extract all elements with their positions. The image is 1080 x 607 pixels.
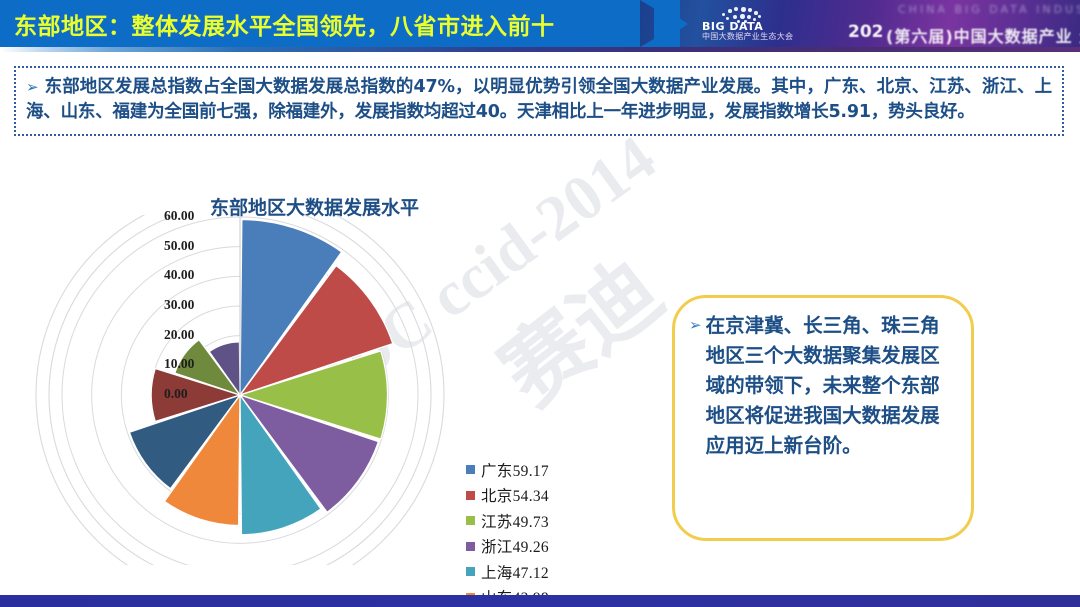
radial-tick-30.00: 30.00 bbox=[164, 297, 194, 313]
legend-item: 浙江49.26 bbox=[466, 534, 616, 560]
legend-label: 北京54.34 bbox=[481, 484, 549, 506]
legend-swatch-icon bbox=[466, 465, 475, 474]
radial-axis-ticklabels: 0.0010.0020.0030.0040.0050.0060.00 bbox=[18, 215, 458, 565]
slide-footer bbox=[0, 595, 1080, 607]
intro-paragraph: ➢东部地区发展总指数占全国大数据发展总指数的47%，以明显优势引领全国大数据产业… bbox=[26, 75, 1052, 125]
page-title: 东部地区：整体发展水平全国领先，八省市进入前十 bbox=[14, 7, 555, 41]
chart-region: 东部地区大数据发展水平 0.0010.0020.0030.0040.0050.0… bbox=[0, 175, 620, 575]
radial-tick-20.00: 20.00 bbox=[164, 327, 194, 343]
radial-tick-60.00: 60.00 bbox=[164, 208, 194, 224]
callout-box: ➢ 在京津冀、长三角、珠三角地区三个大数据聚集发展区域的带领下，未来整个东部地区… bbox=[672, 295, 974, 541]
banner-year: 202 bbox=[848, 22, 884, 42]
legend-item: 上海47.12 bbox=[466, 559, 616, 585]
legend-item: 广东59.17 bbox=[466, 457, 616, 483]
logo-sub-text: 中国大数据产业生态大会 bbox=[702, 31, 793, 42]
chart-legend: 广东59.17北京54.34江苏49.73浙江49.26上海47.12山东43.… bbox=[466, 457, 616, 607]
polar-rose-chart: 0.0010.0020.0030.0040.0050.0060.00 bbox=[18, 215, 458, 565]
legend-label: 上海47.12 bbox=[481, 561, 549, 583]
legend-swatch-icon bbox=[466, 542, 475, 551]
legend-label: 江苏49.73 bbox=[481, 510, 549, 532]
intro-textbox: ➢东部地区发展总指数占全国大数据发展总指数的47%，以明显优势引领全国大数据产业… bbox=[14, 66, 1064, 136]
callout-text: 在京津冀、长三角、珠三角地区三个大数据聚集发展区域的带领下，未来整个东部地区将促… bbox=[706, 311, 957, 461]
intro-bullet-icon: ➢ bbox=[26, 78, 38, 96]
banner-ghost-text: CHINA BIG DATA INDUSTRY bbox=[898, 3, 1080, 16]
legend-label: 浙江49.26 bbox=[481, 535, 549, 557]
callout-inner: ➢ 在京津冀、长三角、珠三角地区三个大数据聚集发展区域的带领下，未来整个东部地区… bbox=[689, 311, 957, 461]
conference-banner: CHINA BIG DATA INDUSTRY BIG DATA 中国大数据产业… bbox=[640, 0, 1080, 47]
slide-header: CHINA BIG DATA INDUSTRY BIG DATA 中国大数据产业… bbox=[0, 0, 1080, 47]
legend-item: 北京54.34 bbox=[466, 483, 616, 509]
radial-tick-50.00: 50.00 bbox=[164, 238, 194, 254]
slide-root: CHINA BIG DATA INDUSTRY BIG DATA 中国大数据产业… bbox=[0, 0, 1080, 607]
legend-swatch-icon bbox=[466, 516, 475, 525]
banner-event-title: (第六届)中国大数据产业 生态 大会 bbox=[886, 23, 1080, 47]
legend-swatch-icon bbox=[466, 491, 475, 500]
intro-paragraph-text: 东部地区发展总指数占全国大数据发展总指数的47%，以明显优势引领全国大数据产业发… bbox=[26, 77, 1052, 122]
legend-swatch-icon bbox=[466, 567, 475, 576]
legend-label: 广东59.17 bbox=[481, 459, 549, 481]
header-accent-bar bbox=[0, 47, 1080, 52]
radial-tick-0.00: 0.00 bbox=[164, 386, 188, 402]
callout-bullet-icon: ➢ bbox=[689, 311, 702, 341]
radial-tick-40.00: 40.00 bbox=[164, 267, 194, 283]
banner-chevron-icon bbox=[654, 0, 688, 47]
legend-item: 江苏49.73 bbox=[466, 508, 616, 534]
radial-tick-10.00: 10.00 bbox=[164, 356, 194, 372]
bigdata-logo: BIG DATA 中国大数据产业生态大会 bbox=[702, 6, 782, 42]
